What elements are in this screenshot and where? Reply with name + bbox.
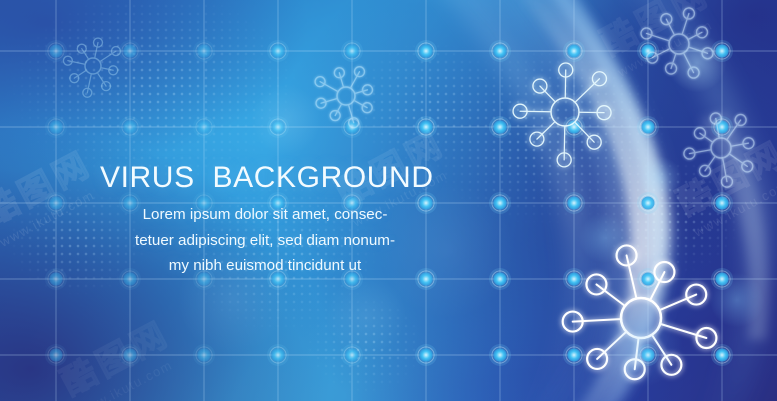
text-block: VIRUS BACKGROUND Lorem ipsum dolor sit a… (0, 0, 777, 401)
body-paragraph: Lorem ipsum dolor sit amet, consec- tetu… (100, 202, 430, 279)
poster-canvas: VIRUS BACKGROUND Lorem ipsum dolor sit a… (0, 0, 777, 401)
page-title: VIRUS BACKGROUND (100, 161, 434, 195)
